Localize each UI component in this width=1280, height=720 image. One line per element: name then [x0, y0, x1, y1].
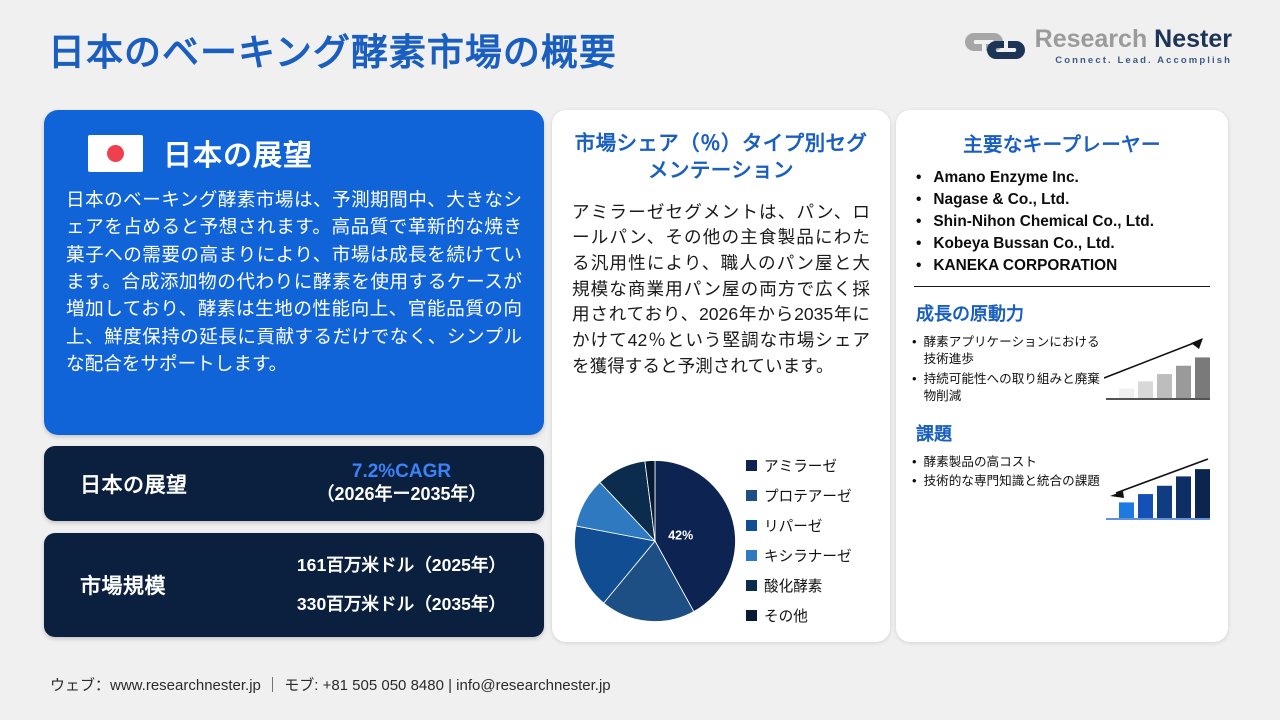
growth-drivers-bar-chart	[1104, 334, 1212, 406]
interlocking-links-logo-icon	[964, 29, 1026, 63]
flag-sun-dot	[107, 145, 124, 162]
growth-driver-label: 持続可能性への取り組みと廃棄物削減	[924, 371, 1100, 406]
challenges-list: •酵素製品の高コスト•技術的な専門知識と統合の課題	[912, 454, 1100, 493]
growth-drivers-row: •酵素アプリケーションにおける技術進歩•持続可能性への取り組みと廃棄物削減	[912, 334, 1212, 407]
mini-bar	[1138, 381, 1153, 398]
key-player-label: Kobeya Bussan Co., Ltd.	[933, 233, 1114, 255]
mini-bar	[1157, 486, 1172, 518]
key-players-list: •Amano Enzyme Inc.•Nagase & Co., Ltd.•Sh…	[912, 167, 1212, 277]
bullet-icon: •	[916, 255, 921, 277]
key-player-item: •Amano Enzyme Inc.	[916, 167, 1212, 189]
key-players-card: 主要なキープレーヤー •Amano Enzyme Inc.•Nagase & C…	[896, 110, 1228, 642]
logo-text: Research Nester Connect. Lead. Accomplis…	[1035, 27, 1232, 66]
footer-contact: ウェブ：www.researchnester.jp ｜ モブ: +81 505 …	[50, 674, 611, 695]
legend-swatch	[746, 520, 757, 531]
mini-bar	[1195, 358, 1210, 399]
key-player-item: •Shin-Nihon Chemical Co., Ltd.	[916, 211, 1212, 233]
key-player-label: KANEKA CORPORATION	[933, 255, 1117, 277]
logo-word-nester: Nester	[1154, 25, 1232, 53]
legend-swatch	[746, 550, 757, 561]
stat-cagr-label: 日本の展望	[44, 469, 259, 499]
mini-bar	[1119, 389, 1134, 398]
pie-legend: アミラーゼプロテアーゼリパーゼキシラナーゼ酸化酵素その他	[744, 455, 852, 626]
logo-word-research: Research	[1035, 25, 1148, 53]
mini-bar	[1138, 494, 1153, 518]
legend-item: 酸化酵素	[746, 575, 852, 596]
section-divider	[914, 286, 1210, 287]
stat-cagr-values: 7.2%CAGR （2026年ー2035年）	[259, 461, 544, 505]
japan-outlook-panel: 日本の展望 日本のベーキング酵素市場は、予測期間中、大きなシェアを占めると予想さ…	[44, 110, 544, 435]
bullet-icon: •	[912, 454, 917, 471]
key-player-label: Shin-Nihon Chemical Co., Ltd.	[933, 211, 1154, 233]
legend-label: 酸化酵素	[764, 575, 822, 596]
key-player-label: Nagase & Co., Ltd.	[933, 189, 1069, 211]
bullet-icon: •	[912, 371, 917, 406]
brand-logo: Research Nester Connect. Lead. Accomplis…	[964, 22, 1232, 70]
stat-card-cagr: 日本の展望 7.2%CAGR （2026年ー2035年）	[44, 446, 544, 521]
legend-label: プロテアーゼ	[764, 485, 852, 506]
bullet-icon: •	[916, 233, 921, 255]
legend-item: その他	[746, 605, 852, 626]
market-share-pie-chart: 42%	[572, 458, 738, 624]
bullet-icon: •	[912, 473, 917, 490]
slide-root: 日本のベーキング酵素市場の概要 Research Nester Connect.…	[0, 0, 1280, 720]
mini-bar	[1157, 374, 1172, 398]
growth-driver-label: 酵素アプリケーションにおける技術進歩	[924, 334, 1100, 369]
legend-item: プロテアーゼ	[746, 485, 852, 506]
bullet-icon: •	[912, 334, 917, 369]
pie-chart-area: 42% アミラーゼプロテアーゼリパーゼキシラナーゼ酸化酵素その他	[572, 455, 870, 628]
challenge-label: 酵素製品の高コスト	[924, 454, 1037, 471]
stat-market-size-values: 161百万米ドル（2025年） 330百万米ドル（2035年）	[259, 556, 544, 614]
challenge-item: •酵素製品の高コスト	[912, 454, 1100, 471]
legend-swatch	[746, 580, 757, 591]
key-player-item: •Kobeya Bussan Co., Ltd.	[916, 233, 1212, 255]
outlook-title: 日本の展望	[163, 132, 313, 174]
mini-bar	[1195, 469, 1210, 518]
challenges-title: 課題	[916, 420, 1212, 446]
market-share-body-text: アミラーゼセグメントは、パン、ロールパン、その他の主食製品にわたる汎用性により、…	[572, 200, 870, 380]
stat-card-market-size: 市場規模 161百万米ドル（2025年） 330百万米ドル（2035年）	[44, 533, 544, 637]
header: 日本のベーキング酵素市場の概要 Research Nester Connect.…	[0, 0, 1280, 100]
market-share-title: 市場シェア（％）タイプ別セグメンテーション	[572, 130, 870, 185]
page-title: 日本のベーキング酵素市場の概要	[48, 22, 617, 76]
japan-flag-icon	[88, 135, 143, 172]
growth-drivers-title: 成長の原動力	[916, 300, 1212, 326]
pie-data-label: 42%	[668, 528, 693, 542]
legend-item: リパーゼ	[746, 515, 852, 536]
market-size-2035: 330百万米ドル（2035年）	[259, 595, 544, 614]
growth-driver-item: •酵素アプリケーションにおける技術進歩	[912, 334, 1100, 369]
cagr-period: （2026年ー2035年）	[259, 483, 544, 506]
challenges-row: •酵素製品の高コスト•技術的な専門知識と統合の課題	[912, 454, 1212, 526]
mini-bar	[1176, 476, 1191, 518]
challenges-bar-chart	[1104, 454, 1212, 526]
market-size-2025: 161百万米ドル（2025年）	[259, 556, 544, 575]
legend-item: キシラナーゼ	[746, 545, 852, 566]
legend-label: その他	[764, 605, 808, 626]
mini-bar	[1119, 502, 1134, 518]
stat-market-size-label: 市場規模	[44, 570, 259, 600]
bullet-icon: •	[916, 189, 921, 211]
key-players-title: 主要なキープレーヤー	[912, 128, 1212, 157]
logo-tagline: Connect. Lead. Accomplish	[1035, 56, 1232, 66]
outlook-header: 日本の展望	[88, 132, 522, 174]
logo-wordmark: Research Nester	[1035, 27, 1232, 52]
market-share-card: 市場シェア（％）タイプ別セグメンテーション アミラーゼセグメントは、パン、ロール…	[552, 110, 890, 642]
growth-driver-item: •持続可能性への取り組みと廃棄物削減	[912, 371, 1100, 406]
challenge-item: •技術的な専門知識と統合の課題	[912, 473, 1100, 490]
legend-swatch	[746, 490, 757, 501]
key-player-label: Amano Enzyme Inc.	[933, 167, 1078, 189]
key-player-item: •KANEKA CORPORATION	[916, 255, 1212, 277]
outlook-body-text: 日本のベーキング酵素市場は、予測期間中、大きなシェアを占めると予想されます。高品…	[66, 186, 522, 377]
legend-label: キシラナーゼ	[764, 545, 852, 566]
legend-label: リパーゼ	[764, 515, 822, 536]
legend-label: アミラーゼ	[764, 455, 837, 476]
cagr-value: 7.2%CAGR	[259, 461, 544, 483]
legend-swatch	[746, 460, 757, 471]
mini-bar	[1176, 366, 1191, 398]
left-column: 日本の展望 日本のベーキング酵素市場は、予測期間中、大きなシェアを占めると予想さ…	[44, 110, 544, 637]
legend-swatch	[746, 610, 757, 621]
legend-item: アミラーゼ	[746, 455, 852, 476]
bullet-icon: •	[916, 211, 921, 233]
key-player-item: •Nagase & Co., Ltd.	[916, 189, 1212, 211]
challenge-label: 技術的な専門知識と統合の課題	[924, 473, 1100, 490]
bullet-icon: •	[916, 167, 921, 189]
growth-drivers-list: •酵素アプリケーションにおける技術進歩•持続可能性への取り組みと廃棄物削減	[912, 334, 1100, 407]
